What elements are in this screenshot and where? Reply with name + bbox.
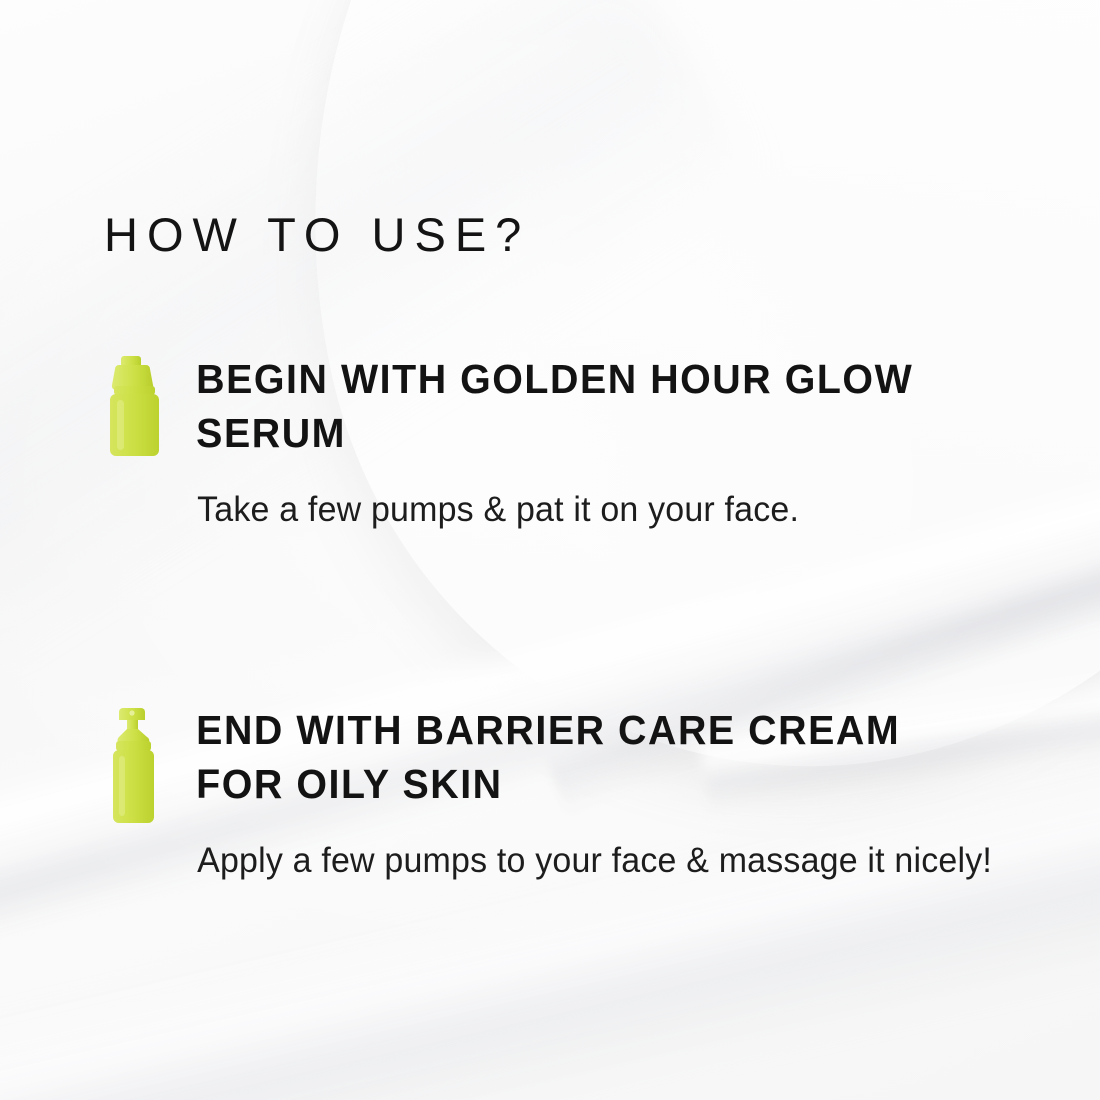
step-header-row: END WITH BARRIER CARE CREAM FOR OILY SKI…	[104, 703, 1024, 813]
step-header-row: BEGIN WITH GOLDEN HOUR GLOW SERUM	[104, 352, 1024, 462]
step-item: BEGIN WITH GOLDEN HOUR GLOW SERUM Take a…	[104, 352, 1024, 534]
step-heading: END WITH BARRIER CARE CREAM FOR OILY SKI…	[104, 703, 987, 811]
page-title: HOW TO USE?	[104, 207, 530, 262]
content-area: HOW TO USE?	[0, 0, 1100, 1100]
step-description: Take a few pumps & pat it on your face.	[104, 462, 996, 534]
step-description: Apply a few pumps to your face & massage…	[104, 813, 996, 885]
step-item: END WITH BARRIER CARE CREAM FOR OILY SKI…	[104, 703, 1024, 885]
how-to-use-card: HOW TO USE?	[0, 0, 1100, 1100]
step-heading: BEGIN WITH GOLDEN HOUR GLOW SERUM	[104, 352, 987, 460]
